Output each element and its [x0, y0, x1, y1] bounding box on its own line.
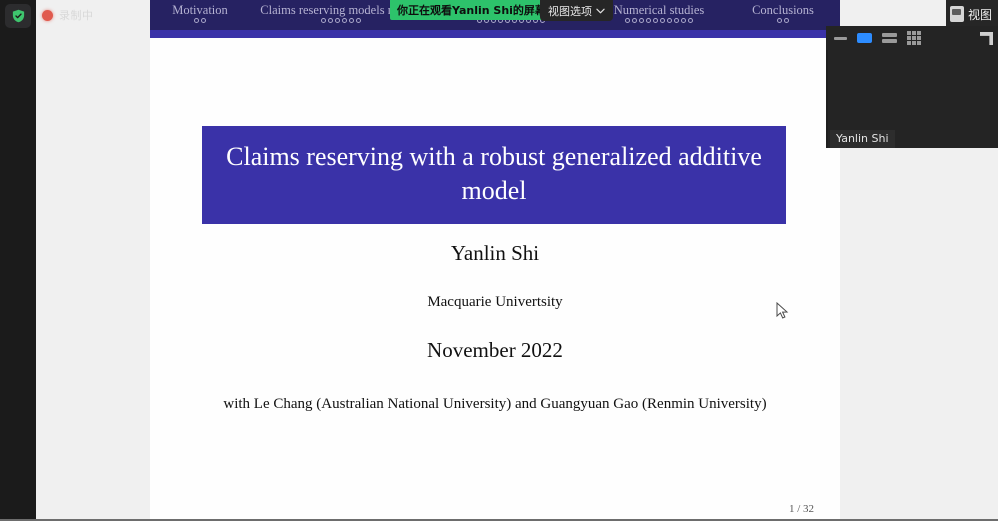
slide-author: Yanlin Shi [150, 241, 840, 266]
window-view-icon [950, 6, 964, 22]
slide-nav-bottom-band [150, 30, 840, 38]
recording-label: 录制中 [59, 7, 94, 23]
page-title: Claims reserving with a robust generaliz… [212, 140, 776, 208]
video-panel: Yanlin Shi [826, 26, 998, 148]
view-options-button[interactable]: 视图选项 [540, 0, 613, 21]
nav-section-numerical-studies[interactable]: Numerical studies [594, 3, 724, 23]
chevron-down-icon [596, 8, 605, 14]
shield-check-icon[interactable] [5, 4, 31, 28]
minimize-view-button[interactable] [834, 37, 847, 40]
recording-indicator[interactable]: 录制中 [42, 6, 94, 24]
view-options-label: 视图选项 [548, 3, 592, 19]
video-panel-toolbar [826, 26, 998, 50]
participant-name-badge: Yanlin Shi [830, 130, 895, 148]
nav-section-motivation[interactable]: Motivation [164, 3, 236, 23]
gallery-view-button[interactable] [907, 31, 921, 45]
speaker-view-icon [857, 33, 872, 43]
left-rail [0, 0, 36, 521]
presentation-slide: Motivation Claims reserving models revie… [150, 0, 840, 519]
nav-section-label: Numerical studies [594, 3, 724, 17]
mouse-cursor-icon [776, 302, 789, 325]
nav-section-dots [594, 18, 724, 23]
nav-section-label: Conclusions [738, 3, 828, 17]
slide-date: November 2022 [150, 338, 840, 363]
viewing-banner-label: 你正在观看Yanlin Shi的屏幕 [397, 2, 546, 18]
speaker-view-button[interactable] [857, 33, 872, 43]
minimize-icon [834, 37, 847, 40]
nav-section-label: Motivation [164, 3, 236, 17]
view-button[interactable]: 视图 [946, 0, 998, 28]
slide-page-number: 1 / 32 [789, 503, 814, 515]
split-view-icon [882, 33, 897, 44]
slide-title-box: Claims reserving with a robust generaliz… [202, 126, 786, 224]
nav-section-dots [164, 18, 236, 23]
popout-icon[interactable] [980, 32, 993, 45]
slide-affiliation: Macquarie Univertsity [150, 294, 840, 311]
side-by-side-view-button[interactable] [882, 33, 897, 44]
nav-section-conclusions[interactable]: Conclusions [738, 3, 828, 23]
record-dot-icon [42, 10, 53, 21]
screen-share-viewing-banner: 你正在观看Yanlin Shi的屏幕 [390, 0, 553, 20]
screen-root: 录制中 Motivation Claims reserving models r… [0, 0, 998, 521]
grid-view-icon [907, 31, 921, 45]
video-tile[interactable]: Yanlin Shi [828, 50, 998, 148]
nav-section-dots [738, 18, 828, 23]
slide-collaborators: with Le Chang (Australian National Unive… [150, 396, 840, 413]
view-button-label: 视图 [968, 6, 992, 23]
